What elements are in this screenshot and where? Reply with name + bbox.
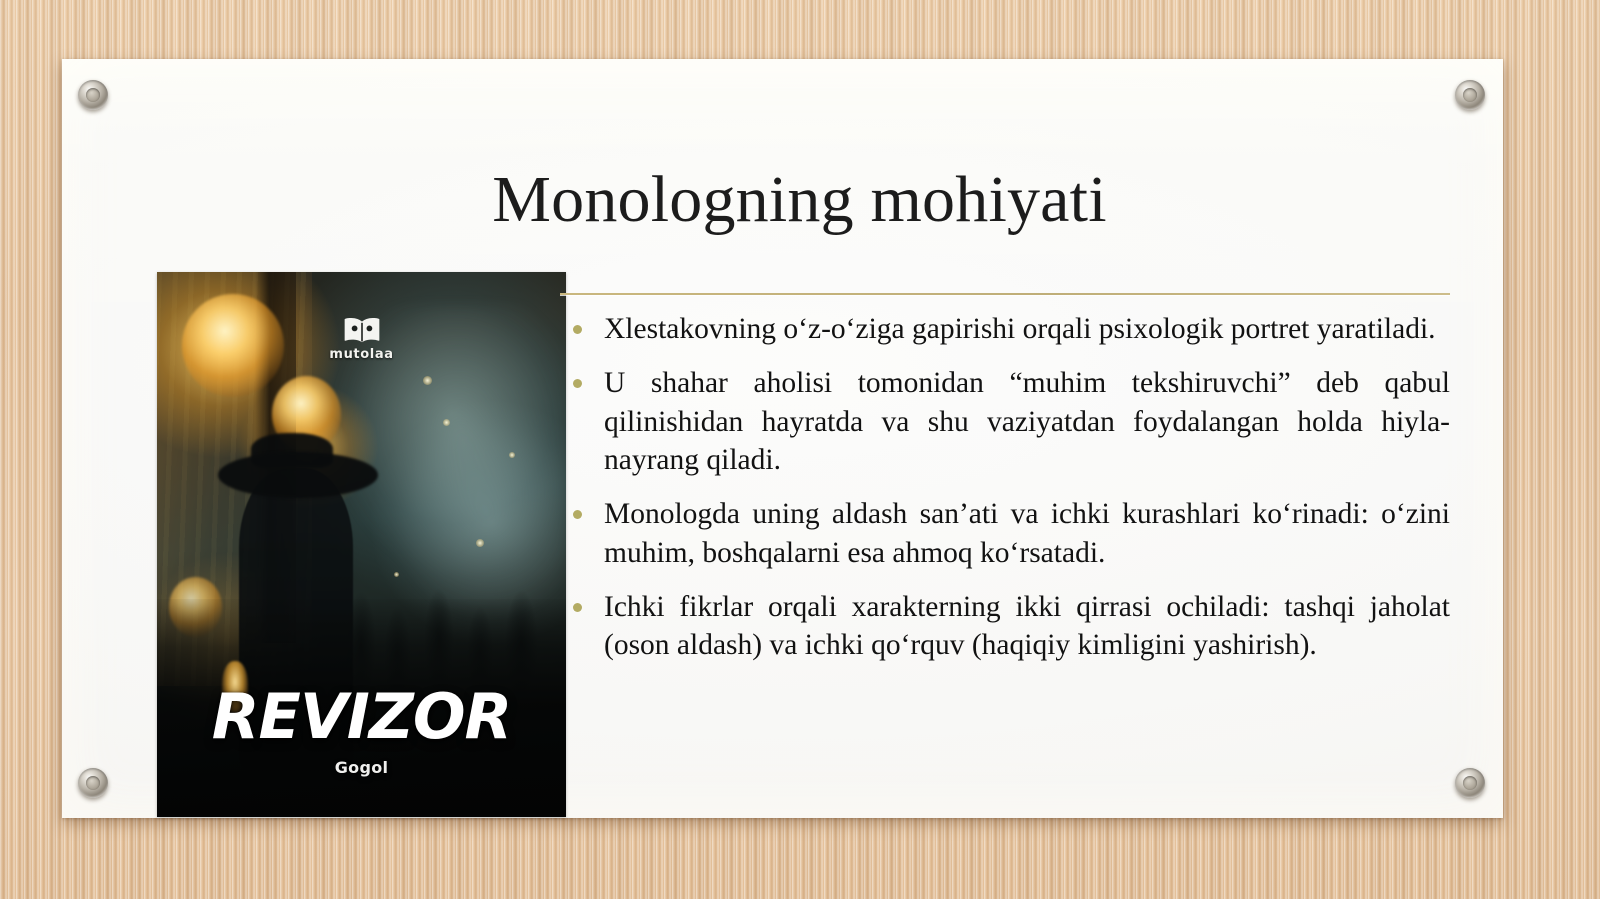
accent-divider — [560, 293, 1450, 295]
open-book-icon — [342, 316, 382, 344]
bullet-dot-icon — [573, 510, 582, 519]
bullet-text: U shahar aholisi tomonidan “muhim tekshi… — [604, 364, 1450, 479]
mutolaa-logo: mutolaa — [157, 316, 566, 362]
bullet-list: Xlestakovning o‘z-o‘ziga gapirishi orqal… — [560, 310, 1450, 665]
bullet-dot-icon — [573, 379, 582, 388]
screw-bottom-left-icon — [78, 768, 108, 798]
bullet-text: Xlestakovning o‘z-o‘ziga gapirishi orqal… — [604, 310, 1450, 348]
bullet-dot-icon — [573, 603, 582, 612]
bullet-dot-icon — [573, 325, 582, 334]
figure-hat-brim — [218, 452, 378, 498]
slide-content: Xlestakovning o‘z-o‘ziga gapirishi orqal… — [560, 293, 1450, 665]
cover-title-block: REVIZOR Gogol — [157, 686, 566, 777]
bullet-text: Monologda uning aldash san’ati va ichki … — [604, 495, 1450, 572]
bullet-text: Ichki fikrlar orqali xarakterning ikki q… — [604, 588, 1450, 665]
list-item: Monologda uning aldash san’ati va ichki … — [560, 495, 1450, 572]
light-spark — [423, 376, 432, 385]
list-item: Ichki fikrlar orqali xarakterning ikki q… — [560, 588, 1450, 665]
light-spark — [509, 452, 515, 458]
list-item: Xlestakovning o‘z-o‘ziga gapirishi orqal… — [560, 310, 1450, 348]
mutolaa-logo-text: mutolaa — [157, 347, 566, 362]
book-cover-image: mutolaa REVIZOR Gogol — [157, 272, 566, 817]
list-item: U shahar aholisi tomonidan “muhim tekshi… — [560, 364, 1450, 479]
slide-title: Monologning mohiyati — [62, 165, 1503, 234]
screw-top-left-icon — [78, 80, 108, 110]
cover-book-title: REVIZOR — [157, 686, 566, 748]
screw-bottom-right-icon — [1455, 768, 1485, 798]
screw-top-right-icon — [1455, 80, 1485, 110]
slide-board: Monologning mohiyati mutolaa — [62, 59, 1503, 818]
cover-book-author: Gogol — [157, 758, 566, 777]
